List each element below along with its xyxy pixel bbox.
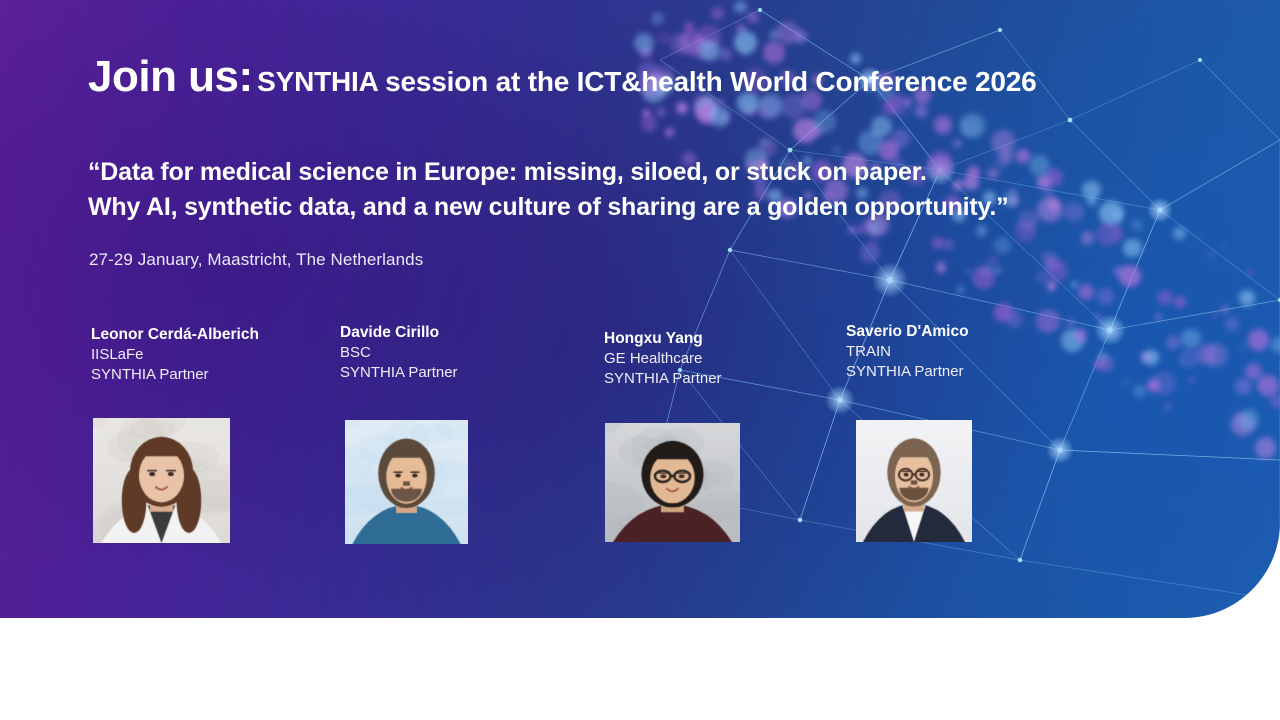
speaker-card-2: Hongxu Yang GE Healthcare SYNTHIA Partne… (604, 329, 722, 388)
speaker-photo-2 (605, 423, 740, 542)
speaker-card-0: Leonor Cerdá-Alberich IISLaFe SYNTHIA Pa… (91, 325, 259, 384)
speaker-role: SYNTHIA Partner (846, 362, 969, 382)
speaker-name: Davide Cirillo (340, 323, 458, 343)
speaker-role: SYNTHIA Partner (604, 369, 722, 389)
speaker-photo-3 (856, 420, 972, 542)
speaker-org: TRAIN (846, 342, 969, 362)
speaker-photo-0 (93, 418, 230, 543)
speakers-section: Leonor Cerdá-Alberich IISLaFe SYNTHIA Pa… (0, 0, 1280, 618)
speaker-role: SYNTHIA Partner (91, 365, 259, 385)
presentation-slide: Join us: SYNTHIA session at the ICT&heal… (0, 0, 1280, 720)
partner-logo-bar: synthia Synthetic Data Generation framew… (0, 618, 1280, 720)
speaker-role: SYNTHIA Partner (340, 363, 458, 383)
speaker-name: Saverio D'Amico (846, 322, 969, 342)
speaker-org: GE Healthcare (604, 349, 722, 369)
speaker-name: Hongxu Yang (604, 329, 722, 349)
speaker-card-1: Davide Cirillo BSC SYNTHIA Partner (340, 323, 458, 382)
speaker-org: IISLaFe (91, 345, 259, 365)
speaker-org: BSC (340, 343, 458, 363)
speaker-name: Leonor Cerdá-Alberich (91, 325, 259, 345)
speaker-card-3: Saverio D'Amico TRAIN SYNTHIA Partner (846, 322, 969, 381)
speaker-photo-1 (345, 420, 468, 544)
